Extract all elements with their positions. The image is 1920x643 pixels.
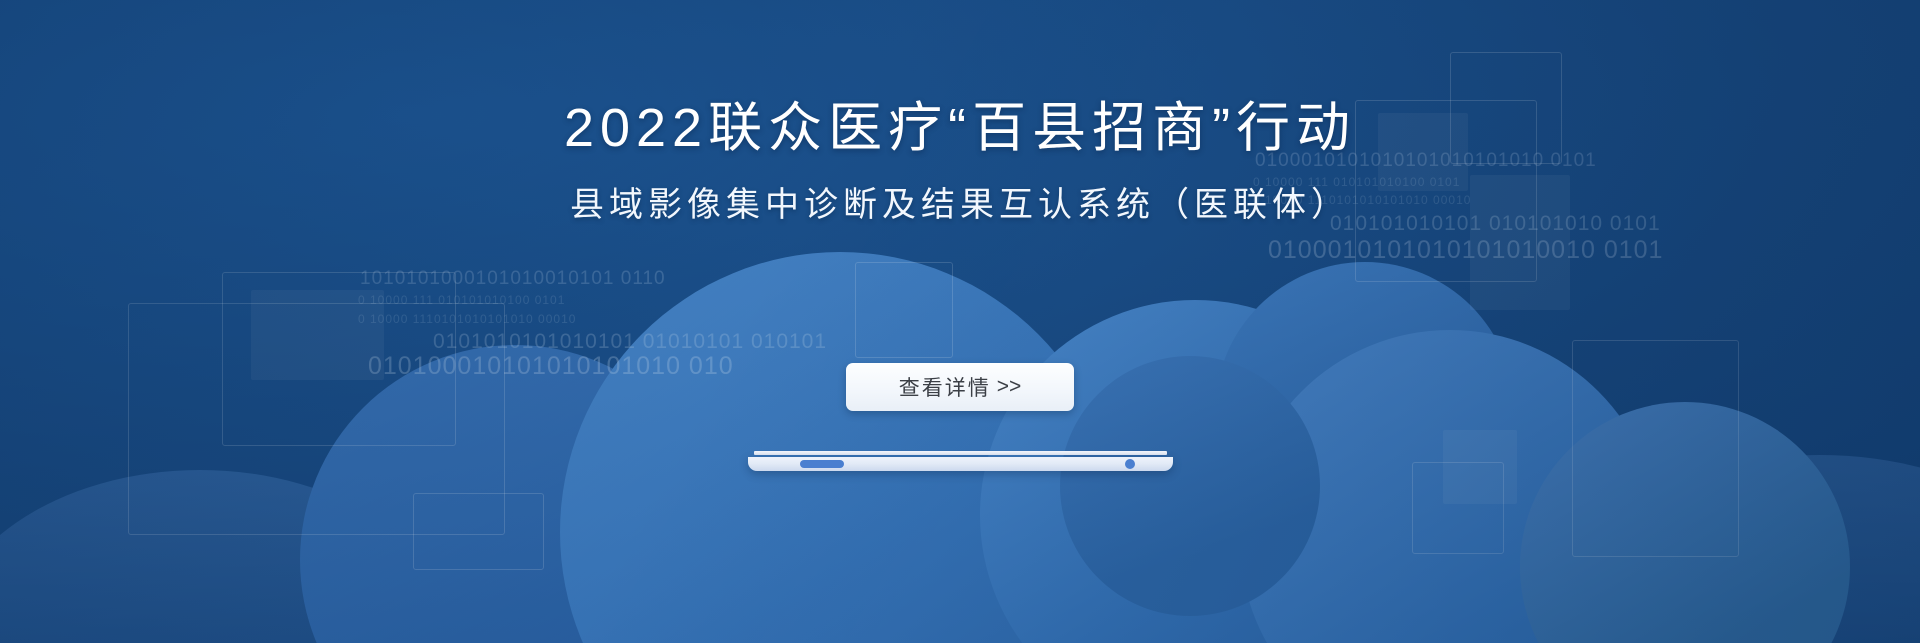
decor-rectangle-fill xyxy=(1443,430,1517,504)
binary-decoration: 0100010101010101010010 0101 xyxy=(1268,236,1663,265)
speaker-slot-icon xyxy=(800,460,844,468)
decor-rectangle-outline xyxy=(855,262,953,358)
binary-decoration: 0101010101010101 01010101 010101 xyxy=(433,330,827,354)
binary-decoration: 010100010101010101010 010 xyxy=(368,352,734,381)
cloud-shape xyxy=(1060,356,1320,616)
banner-subtitle: 县域影像集中诊断及结果互认系统（医联体） xyxy=(0,180,1920,230)
decor-rectangle-outline xyxy=(413,493,544,570)
decor-rectangle-outline xyxy=(1572,340,1739,557)
view-details-label: 查看详情 xyxy=(899,372,991,402)
binary-decoration: 0 10000 111 010101010100 0101 xyxy=(358,293,565,307)
binary-decoration: 1010101000101010010101 0110 xyxy=(360,268,666,290)
banner-title: 2022联众医疗“百县招商”行动 xyxy=(0,92,1920,164)
tablet-device-graphic xyxy=(748,451,1173,473)
device-screen-edge xyxy=(754,451,1167,455)
binary-decoration: 0 10000 1110101010101010 00010 xyxy=(358,312,576,326)
promo-banner: 1010101000101010010101 0110 0 10000 111 … xyxy=(0,0,1920,643)
view-details-button[interactable]: 查看详情 >> xyxy=(846,363,1074,411)
camera-dot-icon xyxy=(1125,459,1135,469)
double-chevron-right-icon: >> xyxy=(997,375,1022,399)
